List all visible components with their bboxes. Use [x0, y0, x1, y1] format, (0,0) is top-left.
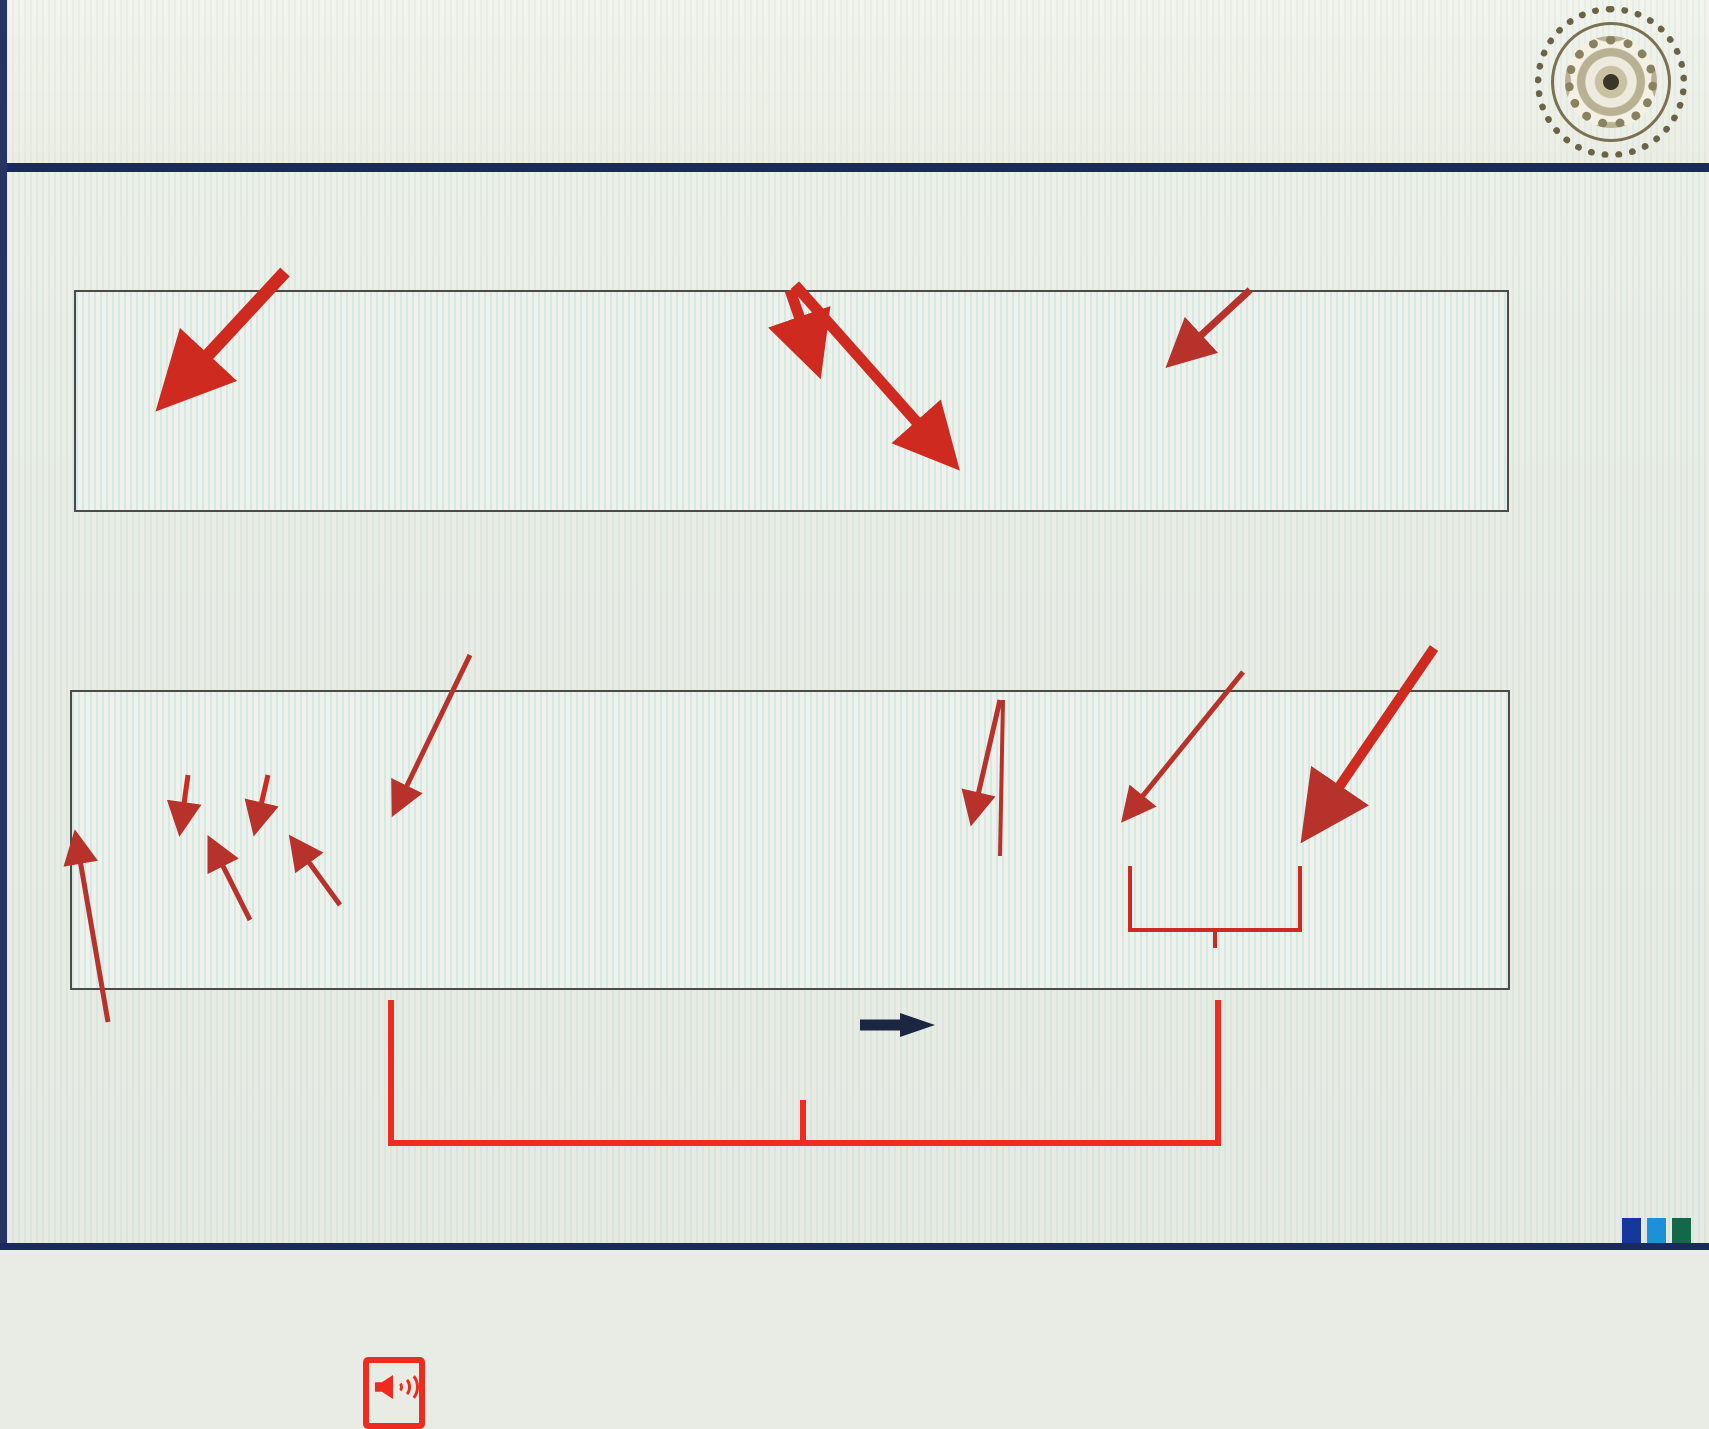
footer-brand	[1616, 1218, 1691, 1244]
top-plot-area	[74, 290, 1509, 512]
brand-square-1	[1622, 1218, 1641, 1244]
bottom-waveform	[72, 692, 1510, 990]
slide-header	[0, 0, 1709, 172]
iit-roorkee-seal-icon	[1535, 6, 1687, 158]
alarm-speaker-icon	[363, 1357, 425, 1429]
slide-bottom-bar	[0, 1243, 1709, 1250]
bottom-plot-area	[70, 690, 1510, 990]
top-accelerogram-chart	[0, 180, 1709, 550]
bottom-comparison-chart	[0, 560, 1709, 1100]
slide-canvas	[0, 0, 1709, 1250]
brand-square-2	[1647, 1218, 1666, 1244]
top-waveform	[76, 292, 1509, 512]
brand-square-3	[1672, 1218, 1691, 1244]
